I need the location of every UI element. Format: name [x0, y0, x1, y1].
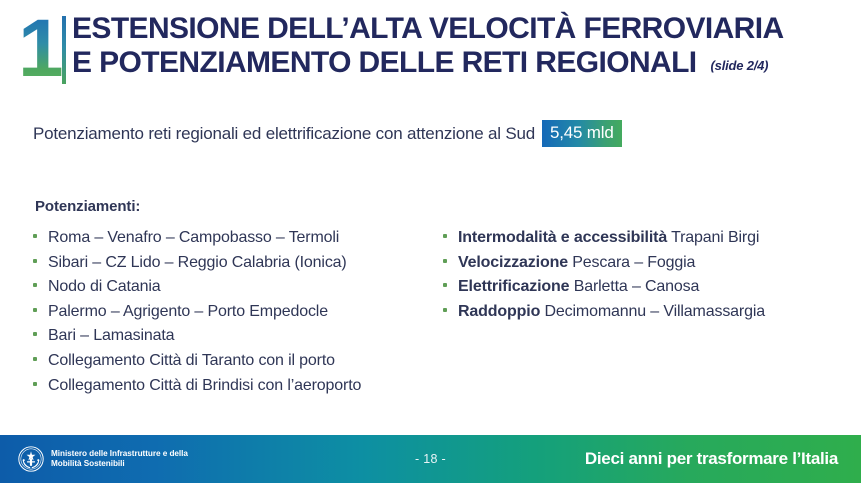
list-item: Bari – Lamasinata	[33, 324, 453, 349]
list-item-bold-prefix: Velocizzazione	[458, 254, 568, 271]
slide-header: 1 ESTENSIONE DELL’ALTA VELOCITÀ FERROVIA…	[0, 0, 861, 100]
slide-root: 1 ESTENSIONE DELL’ALTA VELOCITÀ FERROVIA…	[0, 0, 861, 483]
list-item: Sibari – CZ Lido – Reggio Calabria (Ioni…	[33, 251, 453, 276]
bullet-icon	[443, 259, 447, 263]
bullet-icon	[33, 357, 37, 361]
section-numeral-value: 1	[18, 12, 62, 86]
page-title-line-2: E POTENZIAMENTO DELLE RETI REGIONALI	[72, 46, 697, 80]
list-item-text: Trapani Birgi	[667, 229, 759, 246]
list-item-label: Intermodalità e accessibilità Trapani Bi…	[458, 226, 759, 251]
list-item-label: Collegamento Città di Brindisi con l’aer…	[48, 374, 361, 399]
list-item: Collegamento Città di Taranto con il por…	[33, 349, 453, 374]
right-bullet-list: Intermodalità e accessibilità Trapani Bi…	[443, 226, 843, 324]
list-item-label: Velocizzazione Pescara – Foggia	[458, 251, 695, 276]
subtitle-text: Potenziamento reti regionali ed elettrif…	[33, 124, 535, 144]
page-title: ESTENSIONE DELL’ALTA VELOCITÀ FERROVIARI…	[72, 12, 852, 85]
slide-footer: Ministero delle Infrastrutture e della M…	[0, 435, 861, 483]
bullet-icon	[33, 234, 37, 238]
bullet-icon	[33, 332, 37, 336]
list-item: Nodo di Catania	[33, 275, 453, 300]
subtitle-row: Potenziamento reti regionali ed elettrif…	[33, 120, 622, 147]
list-item-label: Collegamento Città di Taranto con il por…	[48, 349, 335, 374]
list-item-text: Decimomannu – Villamassargia	[540, 303, 765, 320]
bullet-icon	[443, 308, 447, 312]
list-item-text: Nodo di Catania	[48, 278, 161, 295]
list-item: Roma – Venafro – Campobasso – Termoli	[33, 226, 453, 251]
list-item-label: Palermo – Agrigento – Porto Empedocle	[48, 300, 328, 325]
slide-counter: (slide 2/4)	[711, 49, 769, 83]
list-item: Raddoppio Decimomannu – Villamassargia	[443, 300, 843, 325]
list-item: Palermo – Agrigento – Porto Empedocle	[33, 300, 453, 325]
list-item-bold-prefix: Elettrificazione	[458, 278, 569, 295]
bullet-icon	[33, 259, 37, 263]
list-item-text: Collegamento Città di Brindisi con l’aer…	[48, 377, 361, 394]
bullet-icon	[33, 382, 37, 386]
list-item-text: Barletta – Canosa	[569, 278, 699, 295]
list-item-text: Collegamento Città di Taranto con il por…	[48, 352, 335, 369]
left-bullet-list: Roma – Venafro – Campobasso – Termoli Si…	[33, 226, 453, 398]
list-item-text: Pescara – Foggia	[568, 254, 695, 271]
left-column: Roma – Venafro – Campobasso – Termoli Si…	[33, 226, 453, 398]
list-item-text: Sibari – CZ Lido – Reggio Calabria (Ioni…	[48, 254, 347, 271]
list-item: Intermodalità e accessibilità Trapani Bi…	[443, 226, 843, 251]
header-divider	[62, 16, 66, 84]
bullet-icon	[443, 283, 447, 287]
footer-tagline: Dieci anni per trasformare l’Italia	[585, 449, 838, 469]
right-column: Intermodalità e accessibilità Trapani Bi…	[443, 226, 843, 324]
list-item-bold-prefix: Raddoppio	[458, 303, 540, 320]
list-item-label: Nodo di Catania	[48, 275, 161, 300]
list-item-text: Palermo – Agrigento – Porto Empedocle	[48, 303, 328, 320]
page-title-line-2-row: E POTENZIAMENTO DELLE RETI REGIONALI (sl…	[72, 46, 852, 85]
list-item-label: Raddoppio Decimomannu – Villamassargia	[458, 300, 765, 325]
section-numeral: 1	[18, 12, 62, 86]
list-item: Velocizzazione Pescara – Foggia	[443, 251, 843, 276]
list-item: Collegamento Città di Brindisi con l’aer…	[33, 374, 453, 399]
list-item-bold-prefix: Intermodalità e accessibilità	[458, 229, 667, 246]
bullet-icon	[443, 234, 447, 238]
list-item-label: Bari – Lamasinata	[48, 324, 174, 349]
list-item-text: Roma – Venafro – Campobasso – Termoli	[48, 229, 339, 246]
bullet-icon	[33, 308, 37, 312]
amount-badge: 5,45 mld	[542, 120, 622, 147]
list-item-text: Bari – Lamasinata	[48, 327, 174, 344]
list-item-label: Elettrificazione Barletta – Canosa	[458, 275, 699, 300]
list-item-label: Roma – Venafro – Campobasso – Termoli	[48, 226, 339, 251]
list-item-label: Sibari – CZ Lido – Reggio Calabria (Ioni…	[48, 251, 347, 276]
list-item: Elettrificazione Barletta – Canosa	[443, 275, 843, 300]
section-label: Potenziamenti:	[35, 198, 140, 215]
bullet-icon	[33, 283, 37, 287]
page-title-line-1: ESTENSIONE DELL’ALTA VELOCITÀ FERROVIARI…	[72, 12, 852, 46]
